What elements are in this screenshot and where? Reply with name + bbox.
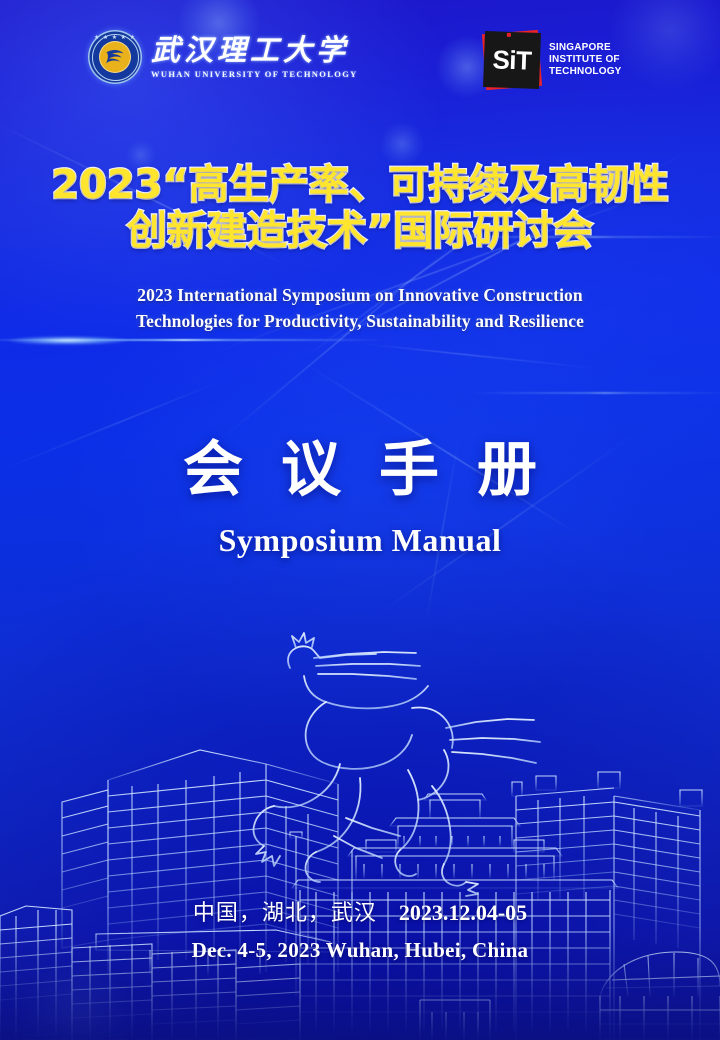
title-chinese-line2: 创新建造技术”国际研讨会 (0, 208, 720, 254)
manual-title-chinese: 会议手册 (0, 440, 720, 500)
logo-bar: ★ ★ ★ ★ ★ 武汉理工大学 WUHAN UNIVERSITY OF TEC… (0, 30, 720, 96)
footer-date-cn: 2023.12.04-05 (399, 900, 527, 925)
wut-name-en: WUHAN UNIVERSITY OF TECHNOLOGY (151, 69, 358, 79)
illustration-svg (0, 600, 720, 1040)
footer: 中国，湖北，武汉 2023.12.04-05 Dec. 4-5, 2023 Wu… (0, 898, 720, 963)
sit-red-dot-icon (507, 33, 511, 37)
footer-english: Dec. 4-5, 2023 Wuhan, Hubei, China (0, 938, 720, 963)
illustration (0, 600, 720, 1040)
sit-name-line2: INSTITUTE OF (549, 54, 622, 66)
sit-name-line1: SINGAPORE (549, 42, 622, 54)
title-chinese: 2023“高生产率、可持续及高韧性 创新建造技术”国际研讨会 (0, 162, 720, 254)
sit-mark-icon: SiT (484, 32, 540, 88)
wut-wave-glyph (100, 42, 130, 72)
wut-seal-icon: ★ ★ ★ ★ ★ (88, 30, 142, 84)
wut-name-cn: 武汉理工大学 (151, 35, 358, 65)
light-streak (0, 339, 390, 341)
title-english-line1: 2023 International Symposium on Innovati… (0, 283, 720, 309)
sit-name-block: SINGAPORE INSTITUTE OF TECHNOLOGY (549, 42, 622, 79)
conference-poster: ★ ★ ★ ★ ★ 武汉理工大学 WUHAN UNIVERSITY OF TEC… (0, 0, 720, 1040)
wut-name-block: 武汉理工大学 WUHAN UNIVERSITY OF TECHNOLOGY (151, 35, 358, 78)
sit-mark-text: SiT (492, 46, 532, 73)
manual-title-english: Symposium Manual (0, 522, 720, 559)
title-chinese-line1: 2023“高生产率、可持续及高韧性 (51, 162, 669, 208)
title-english: 2023 International Symposium on Innovati… (0, 283, 720, 335)
sit-black-square: SiT (483, 31, 541, 89)
footer-place-cn: 中国，湖北，武汉 (193, 901, 377, 926)
sit-name-line3: TECHNOLOGY (549, 66, 622, 78)
lens-flare (8, 336, 128, 345)
light-streak (470, 392, 720, 394)
title-english-line2: Technologies for Productivity, Sustainab… (0, 309, 720, 335)
light-ray (220, 247, 450, 441)
wut-seal-stars: ★ ★ ★ ★ ★ (88, 35, 142, 41)
bokeh-circle (380, 122, 424, 166)
light-ray (359, 343, 598, 369)
footer-chinese: 中国，湖北，武汉 2023.12.04-05 (0, 898, 720, 929)
sit-logo: SiT SINGAPORE INSTITUTE OF TECHNOLOGY (484, 32, 622, 88)
wuhan-university-logo: ★ ★ ★ ★ ★ 武汉理工大学 WUHAN UNIVERSITY OF TEC… (88, 30, 358, 84)
